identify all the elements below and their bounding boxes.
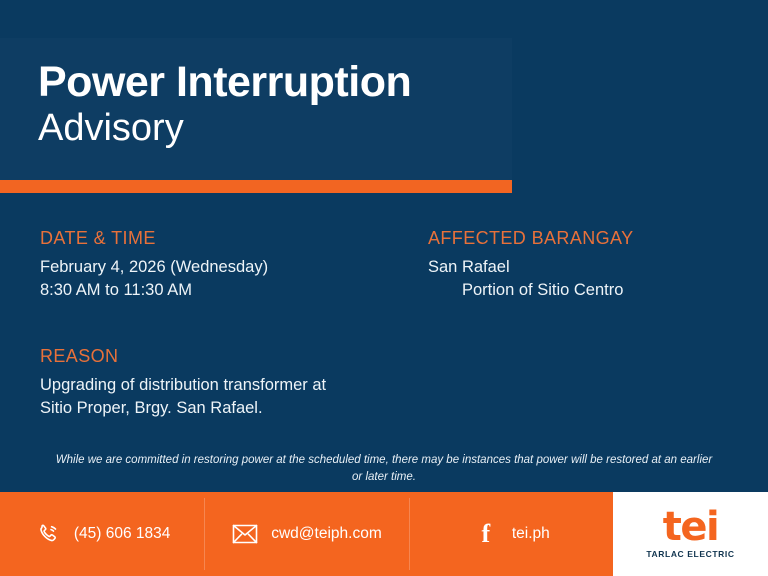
advisory-poster: Power Interruption Advisory DATE & TIME …	[0, 0, 768, 576]
date-time-value: February 4, 2026 (Wednesday) 8:30 AM to …	[40, 256, 420, 302]
date-time-heading: DATE & TIME	[40, 228, 420, 249]
reason-heading: REASON	[40, 346, 420, 367]
date-value: February 4, 2026 (Wednesday)	[40, 258, 268, 276]
reason-line-2: Sitio Proper, Brgy. San Rafael.	[40, 399, 263, 417]
contact-phone[interactable]: (45) 606 1834	[0, 492, 204, 576]
email-address: cwd@teiph.com	[271, 525, 382, 543]
reason-value: Upgrading of distribution transformer at…	[40, 374, 420, 420]
affected-barangay-value: San Rafael Portion of Sitio Centro	[428, 256, 748, 302]
advisory-content: DATE & TIME February 4, 2026 (Wednesday)…	[0, 228, 768, 443]
disclaimer-text: While we are committed in restoring powe…	[50, 452, 718, 487]
contact-email[interactable]: cwd@teiph.com	[204, 492, 408, 576]
envelope-icon	[231, 520, 259, 548]
phone-icon	[34, 520, 62, 548]
page-title: Power Interruption	[38, 60, 512, 106]
left-column: DATE & TIME February 4, 2026 (Wednesday)…	[40, 228, 420, 420]
tei-logo-mark: tei	[663, 509, 718, 546]
affected-barangay-block: AFFECTED BARANGAY San Rafael Portion of …	[428, 228, 748, 302]
accent-bar	[0, 180, 512, 193]
right-column: AFFECTED BARANGAY San Rafael Portion of …	[428, 228, 748, 302]
time-value: 8:30 AM to 11:30 AM	[40, 281, 192, 299]
tei-logo-tagline: TARLAC ELECTRIC	[646, 549, 734, 559]
facebook-handle: tei.ph	[512, 525, 550, 543]
barangay-name: San Rafael	[428, 258, 510, 276]
affected-barangay-heading: AFFECTED BARANGAY	[428, 228, 748, 249]
footer-bar: (45) 606 1834 cwd@teiph.com f tei.ph tei…	[0, 492, 768, 576]
reason-line-1: Upgrading of distribution transformer at	[40, 376, 326, 394]
page-subtitle: Advisory	[38, 108, 512, 150]
facebook-icon: f	[472, 520, 500, 548]
phone-number: (45) 606 1834	[74, 525, 171, 543]
logo-panel: tei TARLAC ELECTRIC	[613, 492, 768, 576]
date-time-block: DATE & TIME February 4, 2026 (Wednesday)…	[40, 228, 420, 302]
reason-block: REASON Upgrading of distribution transfo…	[40, 346, 420, 420]
barangay-detail: Portion of Sitio Centro	[428, 279, 748, 302]
contact-facebook[interactable]: f tei.ph	[409, 492, 613, 576]
title-panel: Power Interruption Advisory	[0, 38, 512, 180]
